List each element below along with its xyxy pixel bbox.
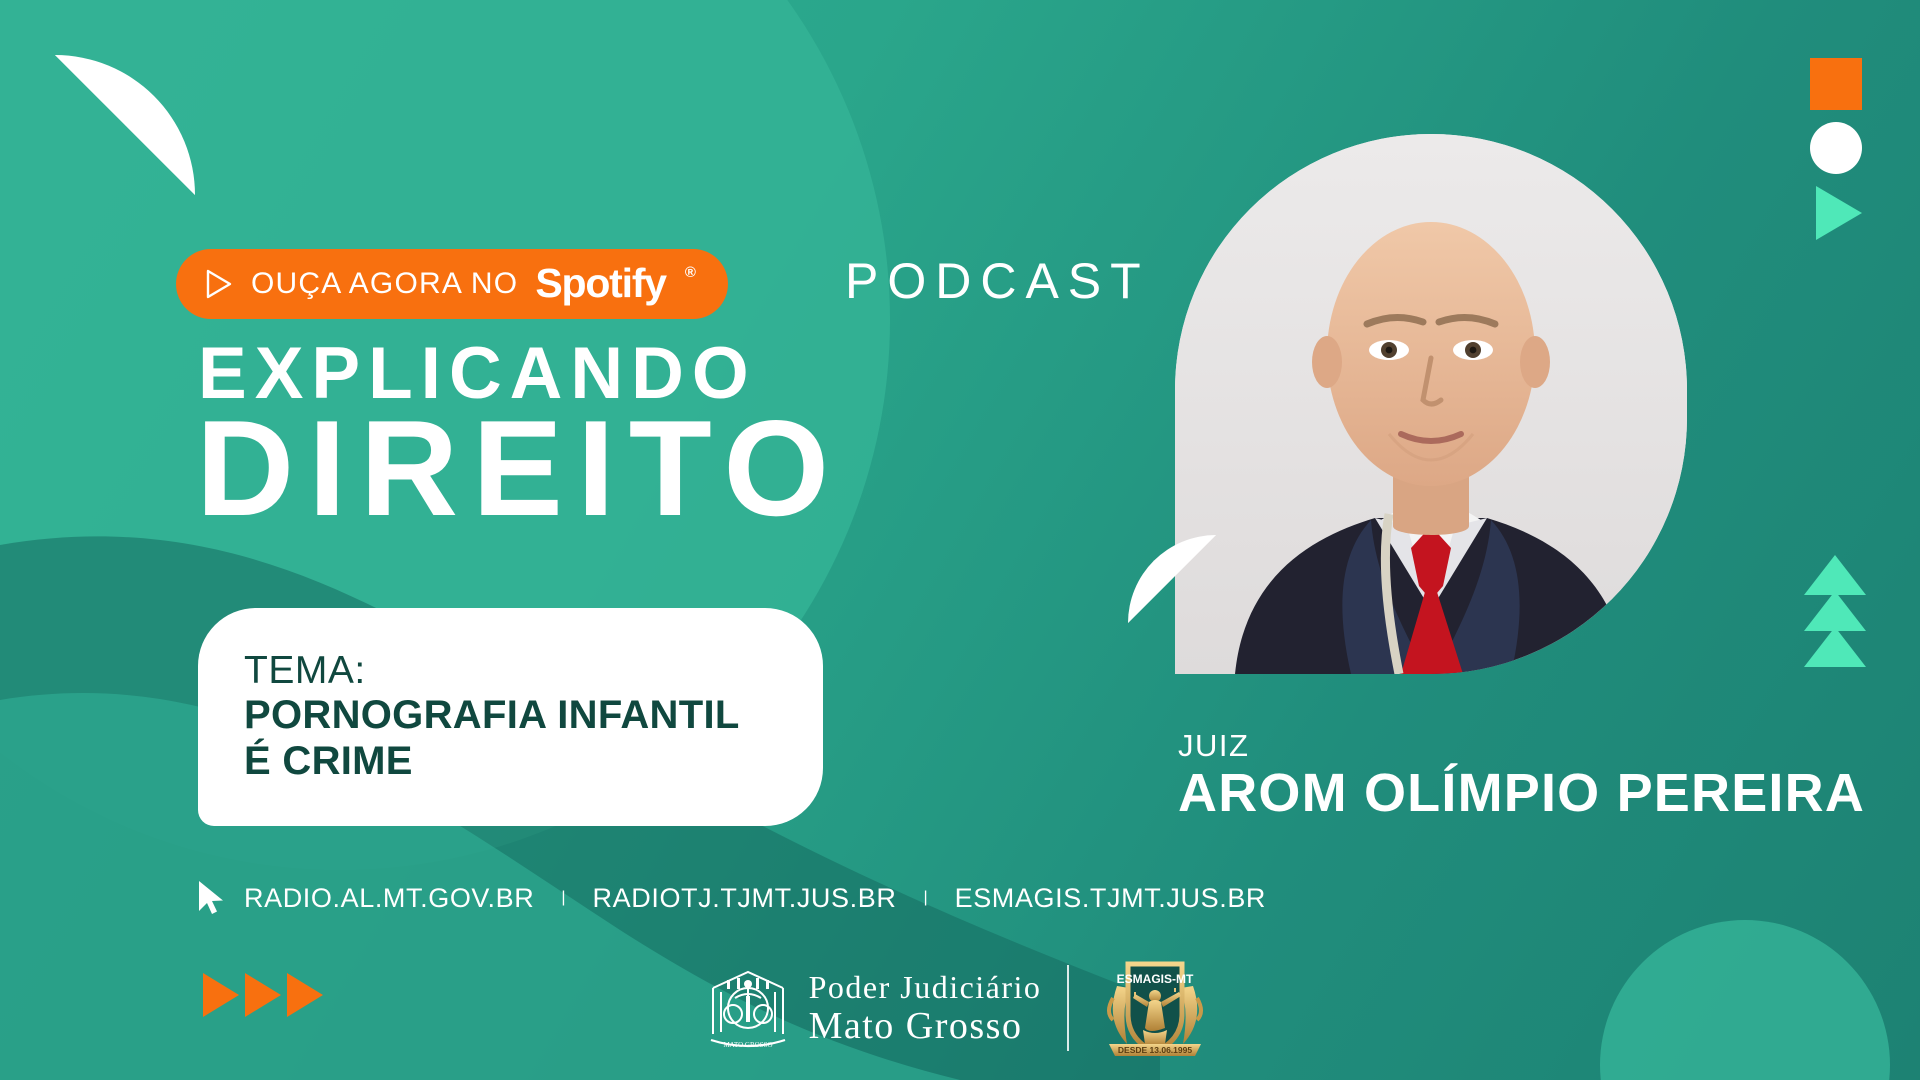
white-circle-icon — [1810, 122, 1862, 174]
topic-label: TEMA: — [244, 650, 823, 692]
footer-logos: MATO GROSSO Poder Judiciário Mato Grosso… — [0, 952, 1920, 1064]
judiciary-line-2: Mato Grosso — [809, 1007, 1042, 1045]
topic-subject-line-1: PORNOGRAFIA INFANTIL — [244, 692, 823, 738]
play-triangle-outline-icon — [204, 268, 234, 300]
judiciary-line-1: Poder Judiciário — [809, 971, 1042, 1003]
website-links: RADIO.AL.MT.GOV.BR | RADIOTJ.TJMT.JUS.BR… — [196, 880, 1266, 916]
poder-judiciario-crest-icon: MATO GROSSO — [705, 962, 791, 1054]
podcast-label: PODCAST — [845, 252, 1150, 310]
registered-mark: ® — [685, 264, 696, 281]
guest-role: JUIZ — [1178, 728, 1249, 764]
svg-text:MATO GROSSO: MATO GROSSO — [723, 1041, 772, 1049]
poster-canvas: OUÇA AGORA NO Spotify ® PODCAST EXPLICAN… — [0, 0, 1920, 1080]
mint-play-triangle-icon — [1816, 186, 1862, 240]
guest-name: AROM OLÍMPIO PEREIRA — [1178, 762, 1865, 824]
link-item[interactable]: RADIO.AL.MT.GOV.BR — [244, 883, 534, 914]
poder-judiciario-logo: MATO GROSSO Poder Judiciário Mato Grosso — [705, 962, 1042, 1054]
link-separator: | — [914, 889, 936, 907]
topic-card: TEMA: PORNOGRAFIA INFANTIL É CRIME — [198, 608, 823, 826]
esmagis-title: ESMAGIS-MT — [1117, 972, 1194, 986]
mint-triangle-icon — [1804, 555, 1866, 595]
spotify-wordmark: Spotify — [535, 260, 666, 307]
topic-subject-line-2: É CRIME — [244, 738, 823, 784]
mint-triangle-icon — [1804, 591, 1866, 631]
triangle-stack-decoration — [1804, 555, 1866, 663]
mint-triangle-icon — [1804, 627, 1866, 667]
footer-divider — [1067, 965, 1069, 1051]
link-separator: | — [552, 889, 574, 907]
spotify-cta-prelabel: OUÇA AGORA NO — [251, 267, 518, 301]
spotify-cta-button[interactable]: OUÇA AGORA NO Spotify ® — [176, 249, 728, 319]
link-item[interactable]: RADIOTJ.TJMT.JUS.BR — [593, 883, 897, 914]
esmagis-shield-icon: ESMAGIS-MT DESDE 13.06.1995 — [1095, 952, 1215, 1064]
title-line-2: DIREITO — [196, 400, 843, 536]
esmagis-ribbon: DESDE 13.06.1995 — [1118, 1045, 1192, 1055]
orange-square-icon — [1810, 58, 1862, 110]
guest-portrait — [1175, 134, 1687, 674]
mouse-pointer-icon — [196, 880, 226, 916]
link-item[interactable]: ESMAGIS.TJMT.JUS.BR — [955, 883, 1266, 914]
